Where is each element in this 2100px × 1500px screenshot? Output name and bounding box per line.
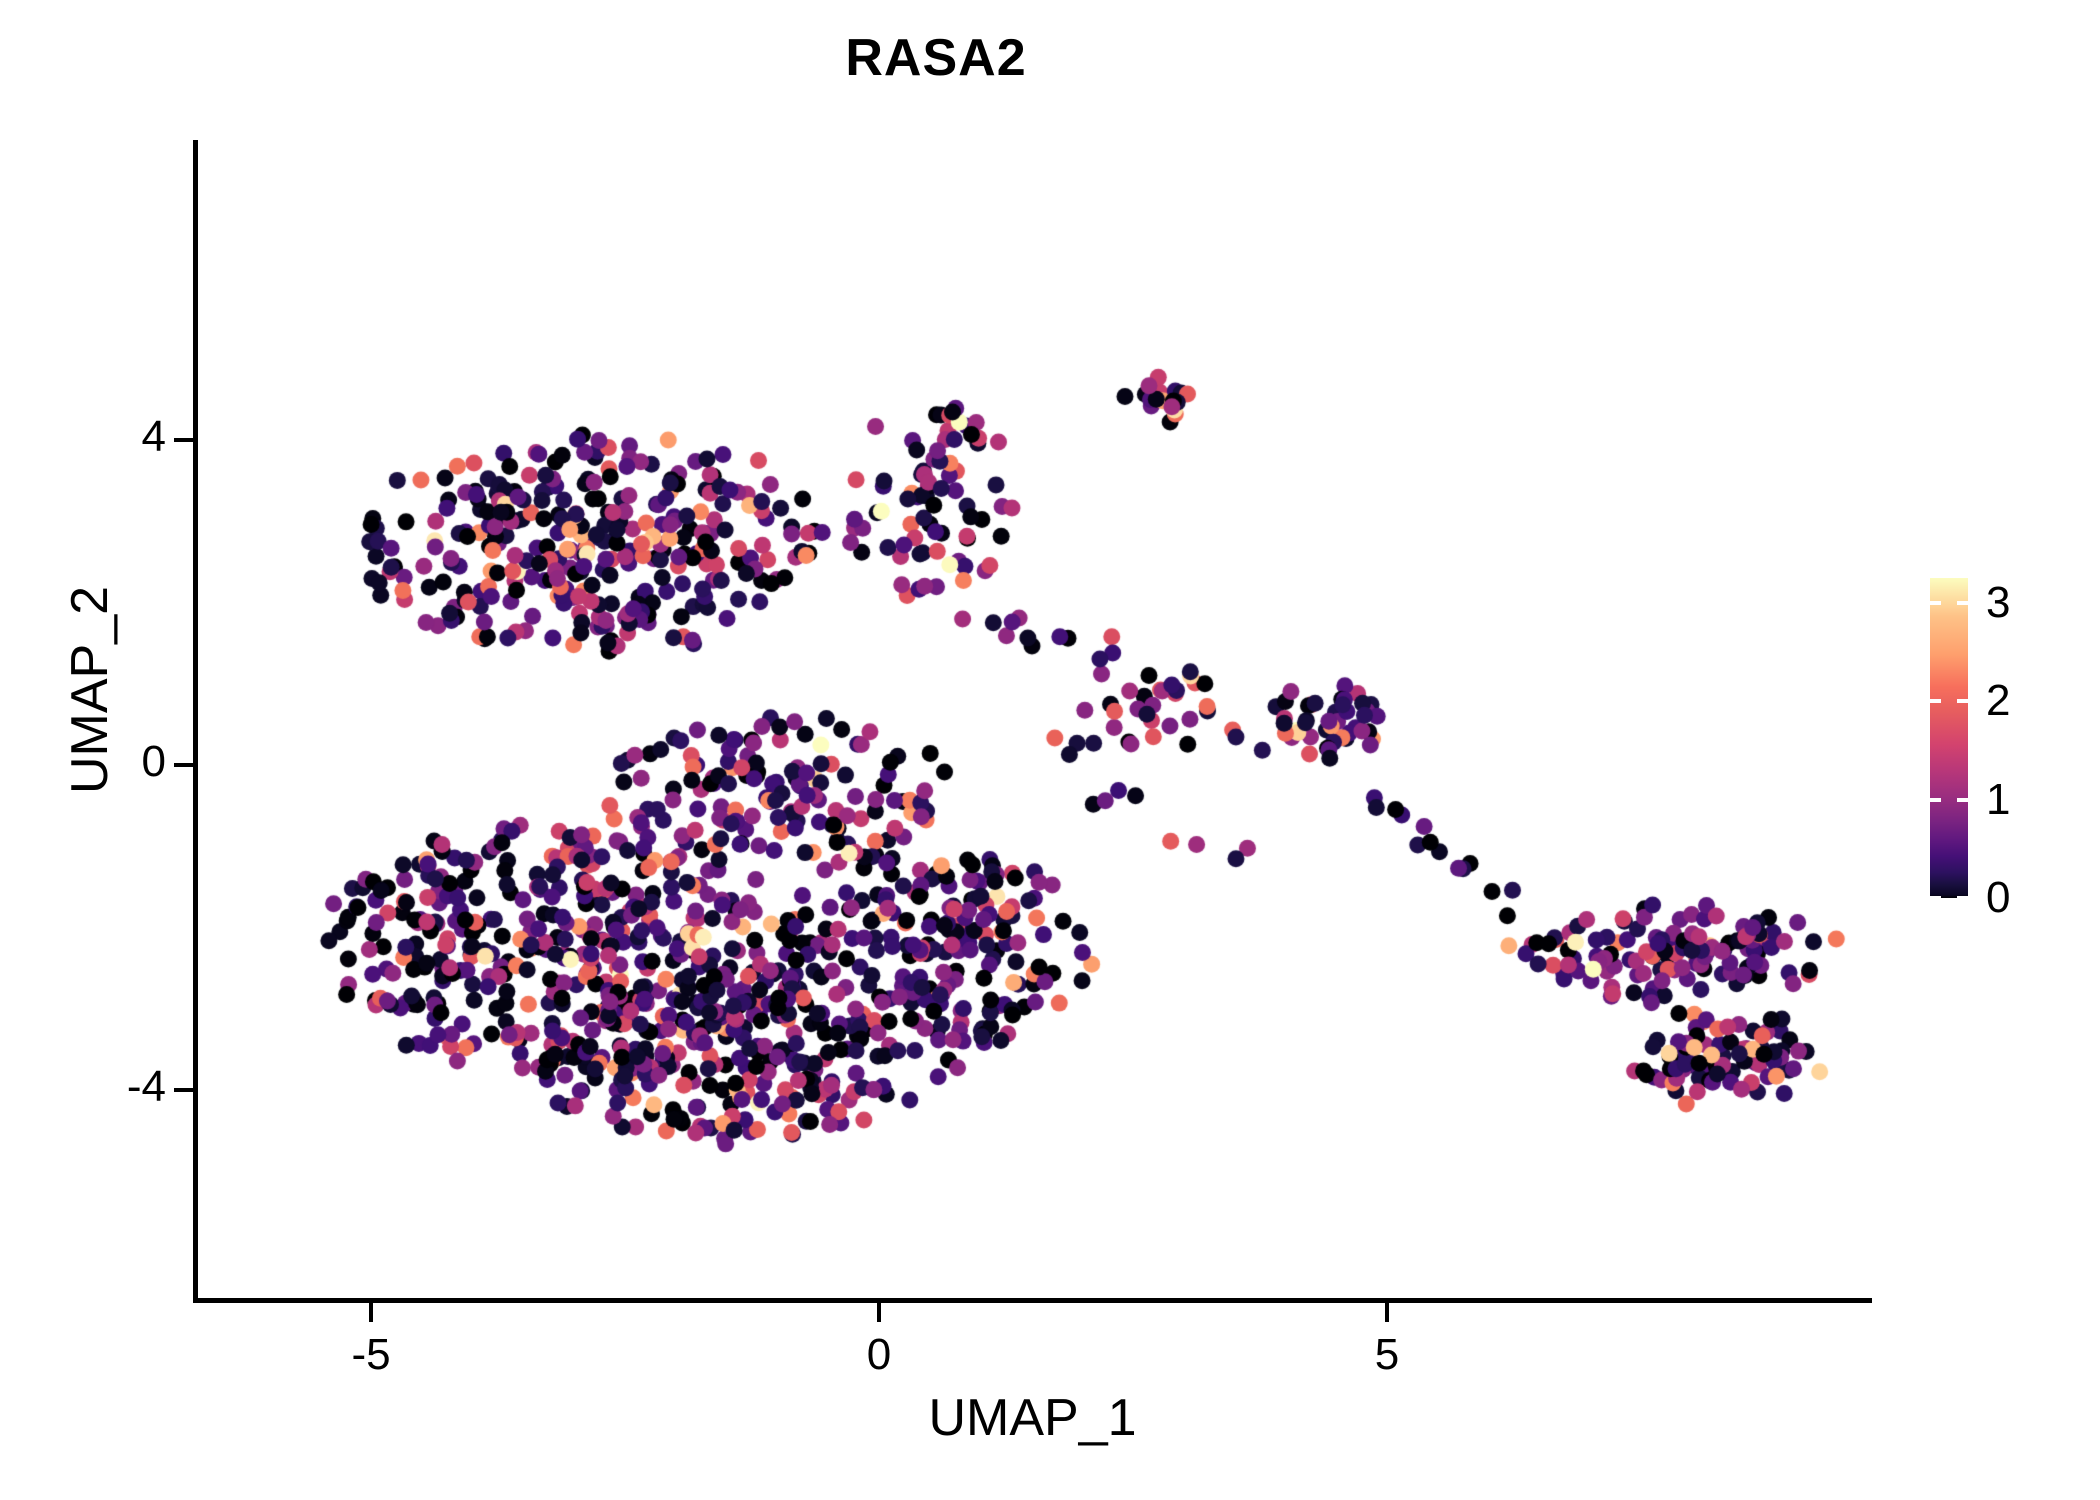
y-tick-mark <box>174 438 193 442</box>
y-axis-title: UMAP_2 <box>60 340 120 1040</box>
x-tick-mark <box>1385 1303 1389 1322</box>
colorbar-tick-mark <box>1930 896 1941 900</box>
y-tick-label: -4 <box>127 1062 166 1112</box>
colorbar-tick-mark <box>1957 699 1968 703</box>
y-tick-label: 4 <box>142 412 166 462</box>
x-tick-label: 0 <box>799 1330 959 1380</box>
colorbar-tick-mark <box>1957 798 1968 802</box>
x-axis-line <box>193 1298 1872 1303</box>
colorbar-tick-mark <box>1930 699 1941 703</box>
y-tick-mark <box>174 763 193 767</box>
colorbar-gradient <box>1930 578 1968 898</box>
colorbar-tick-label: 1 <box>1986 775 2010 825</box>
colorbar-legend: 3210 <box>1930 578 2080 908</box>
y-tick-label: 0 <box>142 737 166 787</box>
plot-panel <box>198 140 1872 1298</box>
x-tick-mark <box>877 1303 881 1322</box>
colorbar-tick-label: 0 <box>1986 873 2010 923</box>
y-tick-mark <box>174 1088 193 1092</box>
colorbar-tick-label: 2 <box>1986 676 2010 726</box>
x-tick-label: 5 <box>1307 1330 1467 1380</box>
colorbar-tick-mark <box>1930 601 1941 605</box>
colorbar-tick-mark <box>1930 798 1941 802</box>
scatter-plot-canvas <box>198 140 1872 1298</box>
x-tick-mark <box>369 1303 373 1322</box>
x-tick-label: -5 <box>291 1330 451 1380</box>
figure-root: RASA2 40-4-505 UMAP_1 UMAP_2 3210 <box>0 0 2100 1500</box>
page-title: RASA2 <box>0 28 1872 88</box>
colorbar-tick-label: 3 <box>1986 578 2010 628</box>
x-axis-title: UMAP_1 <box>193 1388 1872 1448</box>
colorbar-tick-mark <box>1957 601 1968 605</box>
colorbar-tick-mark <box>1957 896 1968 900</box>
